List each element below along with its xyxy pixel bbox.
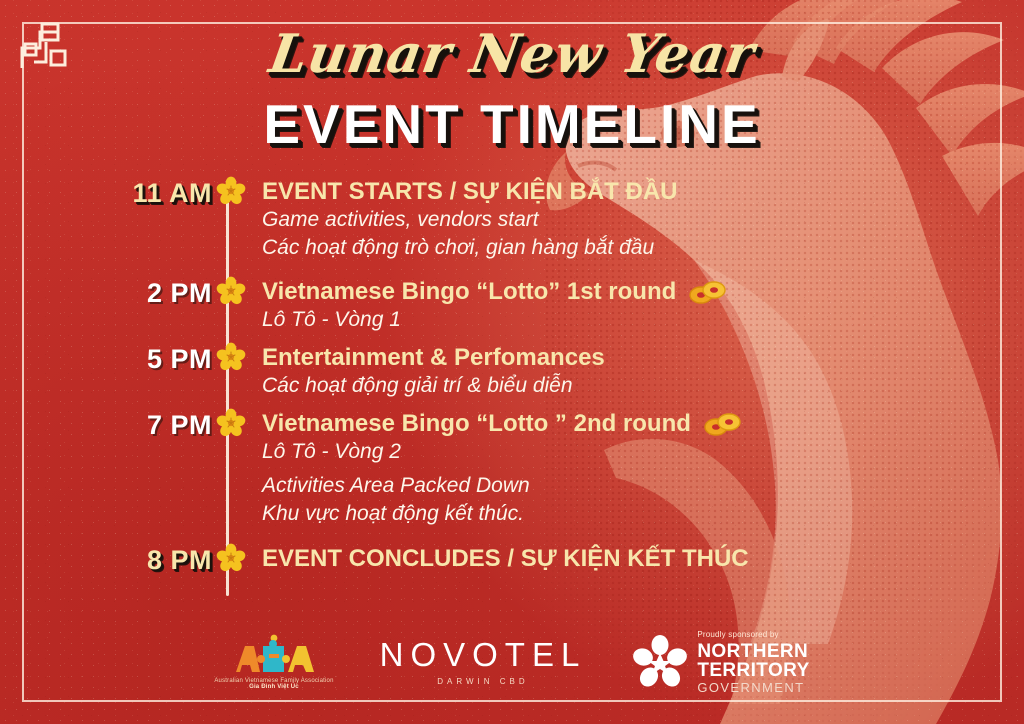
entry-time: 7 PM: [0, 410, 212, 439]
entry-subtitle: Các hoạt động giải trí & biểu diễn: [262, 372, 820, 400]
sponsor-logos: Australian Vietnamese Family Association…: [0, 626, 1024, 698]
event-timeline: 11 AMEVENT STARTS / SỰ KIỆN BẮT ĐẦUGame …: [0, 178, 820, 575]
entry-subtitle: Game activities, vendors start: [262, 206, 820, 234]
gold-coins-icon: [703, 411, 743, 437]
timeline-entry: 8 PMEVENT CONCLUDES / SỰ KIỆN KẾT THÚC: [0, 545, 820, 575]
entry-time: 8 PM: [0, 545, 212, 574]
blossom-icon: [216, 342, 248, 374]
entry-subtitle: Activities Area Packed Down: [262, 472, 820, 500]
entry-spacer: [0, 262, 820, 278]
entry-headline: Entertainment & Perfomances: [262, 344, 820, 372]
title-script: Lunar New Year: [266, 28, 759, 81]
entry-body: Vietnamese Bingo “Lotto ” 2nd roundLô Tô…: [248, 410, 820, 529]
poster-titles: Lunar New Year EVENT TIMELINE: [0, 28, 1024, 152]
entry-subtitle: Lô Tô - Vòng 1: [262, 306, 820, 334]
nt-line2: TERRITORY: [697, 661, 809, 680]
entry-headline-text: Entertainment & Perfomances: [262, 344, 605, 372]
timeline-entry: 11 AMEVENT STARTS / SỰ KIỆN BẮT ĐẦUGame …: [0, 178, 820, 262]
entry-body: Entertainment & PerfomancesCác hoạt động…: [248, 344, 820, 400]
timeline-entry: 7 PMVietnamese Bingo “Lotto ” 2nd roundL…: [0, 410, 820, 529]
entry-body: Vietnamese Bingo “Lotto” 1st roundLô Tô …: [248, 278, 820, 334]
blossom-icon: [216, 276, 248, 308]
entry-spacer: [0, 529, 820, 545]
entry-headline: EVENT STARTS / SỰ KIỆN BẮT ĐẦU: [262, 178, 820, 206]
nt-line1: NORTHERN: [697, 642, 809, 661]
nt-sponsor-prefix: Proudly sponsored by: [697, 631, 809, 639]
entry-spacer: [0, 334, 820, 344]
page-title: EVENT TIMELINE: [0, 97, 1024, 152]
novotel-wordmark: NOVOTEL: [380, 638, 587, 671]
novotel-location: DARWIN CBD: [437, 677, 528, 686]
blossom-icon: [216, 176, 248, 208]
entry-subtitle: Khu vực hoạt động kết thúc.: [262, 500, 820, 528]
entry-headline: Vietnamese Bingo “Lotto” 1st round: [262, 278, 820, 306]
entry-headline-text: EVENT STARTS / SỰ KIỆN BẮT ĐẦU: [262, 178, 678, 206]
entry-body: EVENT CONCLUDES / SỰ KIỆN KẾT THÚC: [248, 545, 820, 573]
poster-canvas: Lunar New Year EVENT TIMELINE 11 AMEVENT…: [0, 0, 1024, 724]
blossom-icon: [216, 543, 248, 575]
entry-headline: Vietnamese Bingo “Lotto ” 2nd round: [262, 410, 820, 438]
blossom-icon: [216, 408, 248, 440]
nt-flower-icon: [632, 634, 688, 690]
entry-body: EVENT STARTS / SỰ KIỆN BẮT ĐẦUGame activ…: [248, 178, 820, 262]
entry-time: 2 PM: [0, 278, 212, 307]
entry-time: 11 AM: [0, 178, 212, 207]
timeline-entry: 2 PMVietnamese Bingo “Lotto” 1st roundLô…: [0, 278, 820, 334]
entry-headline-text: Vietnamese Bingo “Lotto ” 2nd round: [262, 410, 691, 438]
avfa-name-line2: Gia Đình Việt Úc: [249, 684, 299, 690]
entry-headline-text: Vietnamese Bingo “Lotto” 1st round: [262, 278, 676, 306]
entry-spacer: [0, 400, 820, 410]
entry-time: 5 PM: [0, 344, 212, 373]
nt-line3: GOVERNMENT: [697, 681, 809, 694]
entry-subtitle: Các hoạt động trò chơi, gian hàng bắt đầ…: [262, 234, 820, 262]
timeline-entry: 5 PMEntertainment & PerfomancesCác hoạt …: [0, 344, 820, 400]
logo-nt-government: Proudly sponsored by NORTHERN TERRITORY …: [632, 631, 809, 694]
gold-coins-icon: [688, 279, 728, 305]
entry-headline-text: EVENT CONCLUDES / SỰ KIỆN KẾT THÚC: [262, 545, 749, 573]
avfa-puzzle-icon: [228, 634, 320, 676]
entry-subtitle: Lô Tô - Vòng 2: [262, 438, 820, 466]
entry-headline: EVENT CONCLUDES / SỰ KIỆN KẾT THÚC: [262, 545, 820, 573]
logo-novotel: NOVOTEL DARWIN CBD: [380, 638, 587, 686]
logo-avfa: Australian Vietnamese Family Association…: [214, 634, 333, 690]
